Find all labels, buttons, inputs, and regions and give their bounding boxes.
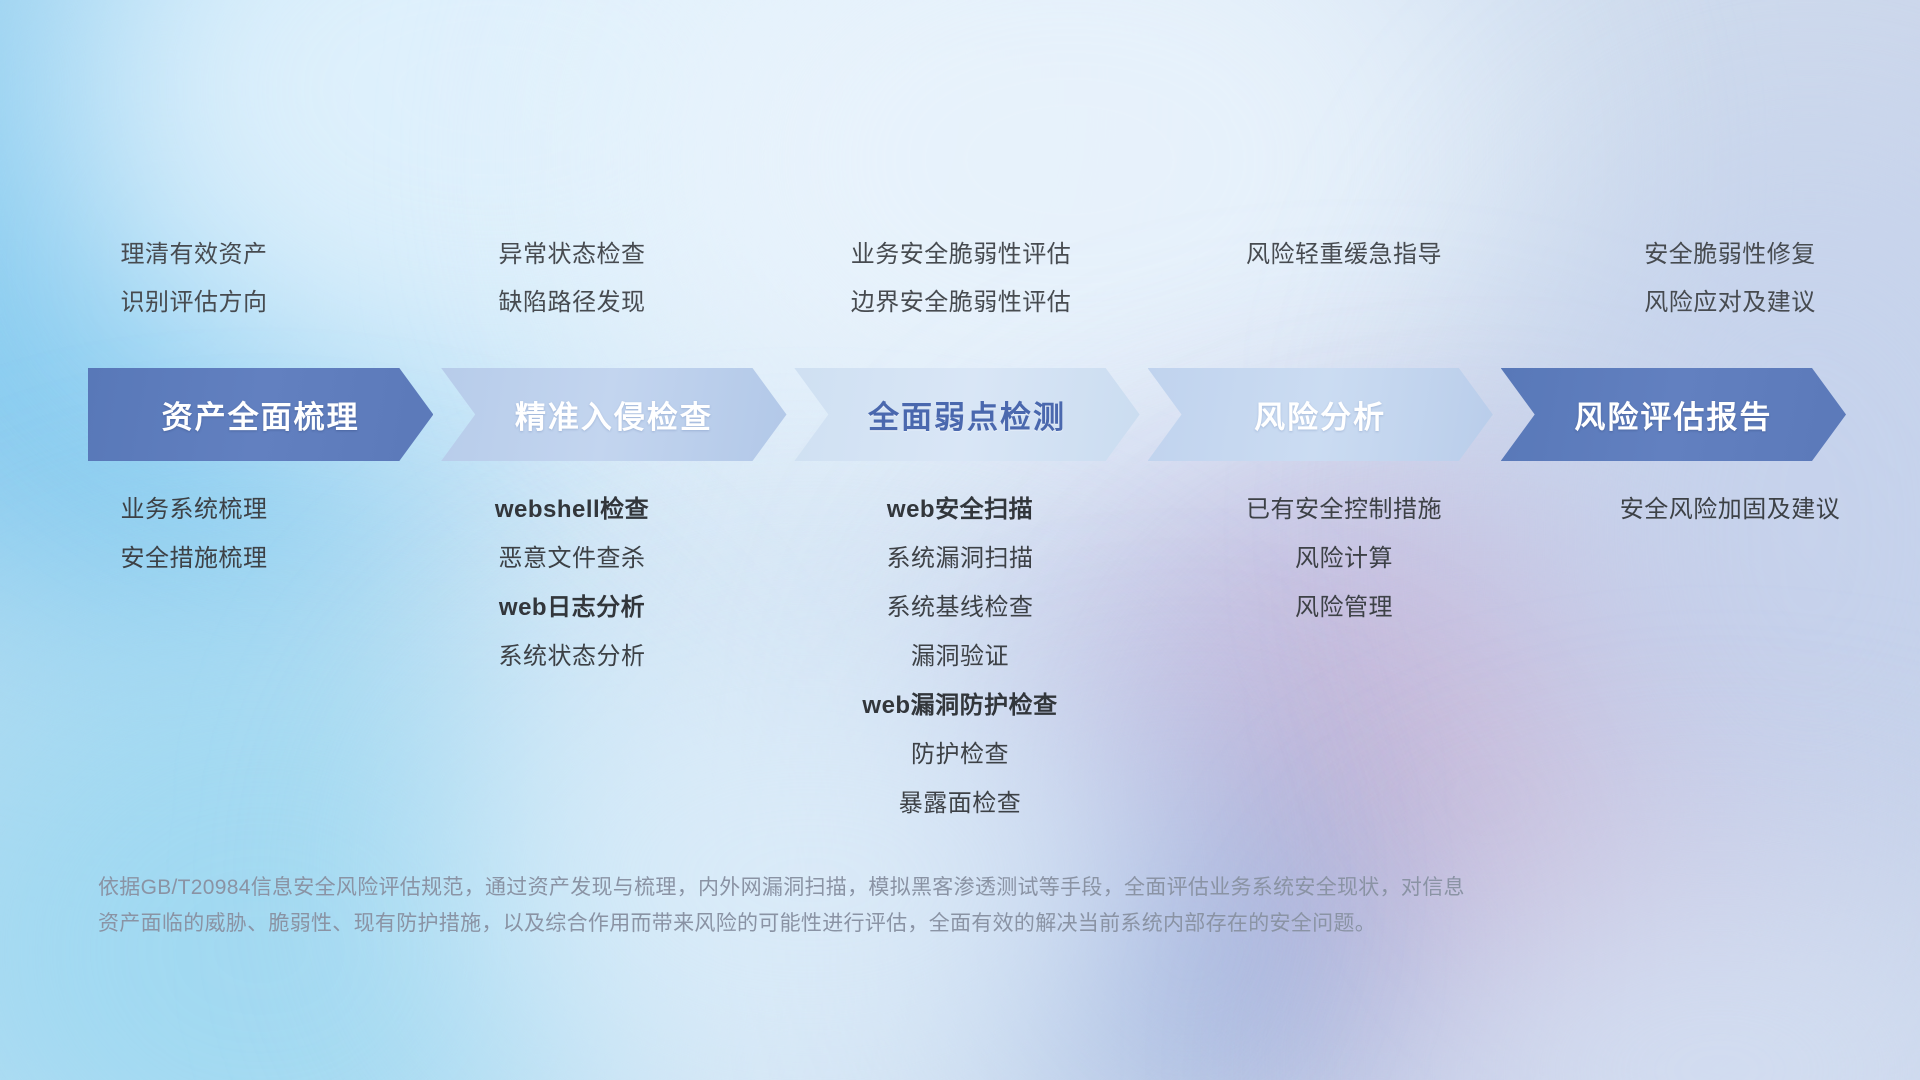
bottom-items-stage-4: 已有安全控制措施 风险计算 风险管理 [1152,490,1536,628]
chevron-label: 资产全面梳理 [162,392,360,437]
bottom-item: 安全措施梳理 [121,539,268,579]
footer-line-1: 依据GB/T20984信息安全风险评估规范，通过资产发现与梳理，内外网漏洞扫描，… [98,870,1738,906]
top-items-stage-5: 安全脆弱性修复 风险应对及建议 [1538,236,1920,322]
bottom-items-stage-5: 安全风险加固及建议 [1538,490,1920,530]
top-item: 业务安全脆弱性评估 [851,236,1072,274]
diagram-content: 理清有效资产 识别评估方向 异常状态检查 缺陷路径发现 业务安全脆弱性评估 边界… [0,0,1920,1080]
chevron-stage-5[interactable]: 风险评估报告 [1501,368,1846,461]
top-item: 风险轻重缓急指导 [1246,236,1442,274]
chevron-stage-4[interactable]: 风险分析 [1148,368,1493,461]
bottom-item: 暴露面检查 [899,784,1022,824]
bottom-item: web漏洞防护检查 [862,686,1057,726]
top-item: 安全脆弱性修复 [1644,236,1816,274]
bottom-item: 风险计算 [1295,539,1393,579]
bottom-item: web日志分析 [499,588,645,628]
top-item: 理清有效资产 [121,236,268,274]
top-items-stage-1: 理清有效资产 识别评估方向 [2,236,386,322]
top-items-stage-3: 业务安全脆弱性评估 边界安全脆弱性评估 [769,236,1153,322]
bottom-items-stage-3: web安全扫描 系统漏洞扫描 系统基线检查 漏洞验证 web漏洞防护检查 防护检… [768,490,1152,824]
footer-description: 依据GB/T20984信息安全风险评估规范，通过资产发现与梳理，内外网漏洞扫描，… [98,870,1738,942]
chevron-label: 风险分析 [1254,392,1386,437]
slide-canvas: 理清有效资产 识别评估方向 异常状态检查 缺陷路径发现 业务安全脆弱性评估 边界… [0,0,1920,1080]
footer-line-2: 资产面临的威胁、脆弱性、现有防护措施，以及综合作用而带来风险的可能性进行评估，全… [98,906,1738,942]
chevron-gap [1493,368,1501,461]
chevron-stage-3[interactable]: 全面弱点检测 [794,368,1139,461]
chevron-stage-1[interactable]: 资产全面梳理 [88,368,433,461]
bottom-item: 业务系统梳理 [121,490,268,530]
chevron-gap [433,368,441,461]
top-items-row: 理清有效资产 识别评估方向 异常状态检查 缺陷路径发现 业务安全脆弱性评估 边界… [0,236,1920,322]
bottom-item: 系统状态分析 [499,637,646,677]
bottom-item: webshell检查 [495,490,649,530]
chevron-stage-2[interactable]: 精准入侵检查 [441,368,786,461]
top-item: 异常状态检查 [499,236,646,274]
bottom-item: 系统漏洞扫描 [887,539,1034,579]
top-items-stage-4: 风险轻重缓急指导 [1152,236,1536,322]
bottom-item: web安全扫描 [887,490,1033,530]
bottom-item: 恶意文件查杀 [499,539,646,579]
top-items-stage-2: 异常状态检查 缺陷路径发现 [380,236,764,322]
bottom-item: 风险管理 [1295,588,1393,628]
bottom-item: 已有安全控制措施 [1246,490,1442,530]
bottom-item: 防护检查 [911,735,1009,775]
chevron-label: 全面弱点检测 [868,392,1066,437]
chevron-gap [787,368,795,461]
top-item: 边界安全脆弱性评估 [851,284,1072,322]
bottom-items-row: 业务系统梳理 安全措施梳理 webshell检查 恶意文件查杀 web日志分析 … [0,490,1920,824]
bottom-item: 漏洞验证 [911,637,1009,677]
process-chevron-band: 资产全面梳理 精准入侵检查 全面弱点检测 风险分析 风险评估报告 [88,368,1846,461]
top-item: 风险应对及建议 [1644,284,1816,322]
top-item: 缺陷路径发现 [499,284,646,322]
chevron-gap [1140,368,1148,461]
bottom-item: 系统基线检查 [887,588,1034,628]
bottom-item: 安全风险加固及建议 [1620,490,1841,530]
chevron-label: 精准入侵检查 [515,392,713,437]
bottom-items-stage-1: 业务系统梳理 安全措施梳理 [2,490,386,579]
top-item: 识别评估方向 [121,284,268,322]
bottom-items-stage-2: webshell检查 恶意文件查杀 web日志分析 系统状态分析 [380,490,764,677]
chevron-label: 风险评估报告 [1574,392,1772,437]
